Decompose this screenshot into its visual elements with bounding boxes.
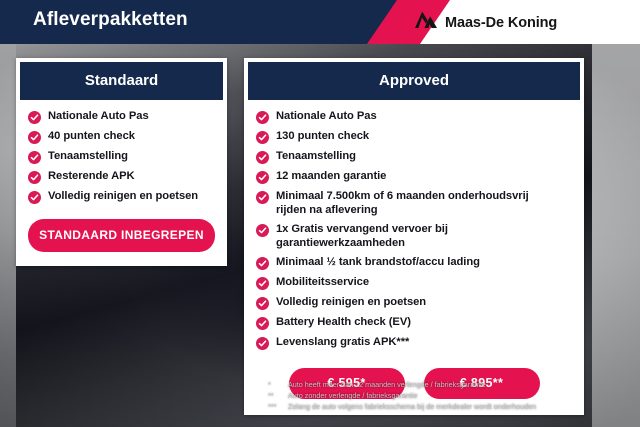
check-circle-icon [256,277,269,290]
list-item: Mobiliteitsservice [256,276,574,290]
check-circle-icon [28,111,41,124]
feature-label: Nationale Auto Pas [48,110,149,124]
feature-label: Tenaamstelling [276,150,356,164]
feature-label: 130 punten check [276,130,369,144]
background-left-strip [0,44,16,427]
footnote-marker: *** [268,401,282,412]
footnote-2: ** Auto zonder verlengde / fabrieksgaran… [268,390,608,401]
list-item: 12 maanden garantie [256,170,574,184]
check-circle-icon [256,111,269,124]
check-circle-icon [28,151,41,164]
list-item: Nationale Auto Pas [256,110,574,124]
list-item: Tenaamstelling [256,150,574,164]
feature-label: Levenslang gratis APK*** [276,336,409,350]
card-approved-title: Approved [248,62,580,100]
list-item: Battery Health check (EV) [256,316,574,330]
check-circle-icon [256,151,269,164]
footnote-text: Auto heeft meer dan 12 maanden verlengde… [288,379,608,390]
check-circle-icon [256,257,269,270]
feature-label: 12 maanden garantie [276,170,386,184]
card-standaard-title: Standaard [20,62,223,100]
background-right-strip [592,44,640,427]
list-item: 1x Gratis vervangend vervoer bij garanti… [256,223,574,250]
list-item: Nationale Auto Pas [28,110,217,124]
check-circle-icon [256,297,269,310]
check-circle-icon [28,171,41,184]
card-approved: Approved Nationale Auto Pas 130 punten c… [244,58,584,415]
list-item: Levenslang gratis APK*** [256,336,574,350]
feature-label: Resterende APK [48,170,135,184]
check-circle-icon [256,191,269,204]
feature-label: Mobiliteitsservice [276,276,369,290]
list-item: Minimaal 7.500km of 6 maanden onderhouds… [256,190,574,217]
check-circle-icon [256,337,269,350]
page-title: Afleverpakketten [33,9,188,31]
feature-label: Tenaamstelling [48,150,128,164]
list-item: Volledig reinigen en poetsen [28,190,217,204]
footnote-marker: ** [268,390,282,401]
check-circle-icon [256,131,269,144]
footnotes: * Auto heeft meer dan 12 maanden verleng… [268,379,608,413]
feature-label: Volledig reinigen en poetsen [48,190,198,204]
feature-label-multiline: Minimaal 7.500km of 6 maanden onderhouds… [276,190,529,217]
check-circle-icon [28,191,41,204]
list-item: 40 punten check [28,130,217,144]
feature-label: Minimaal ½ tank brandstof/accu lading [276,256,480,270]
feature-label-line1: Minimaal 7.500km of 6 maanden onderhouds… [276,190,529,202]
footnote-text: Auto zonder verlengde / fabrieksgarantie [288,390,608,401]
feature-list-approved: Nationale Auto Pas 130 punten check Tena… [244,110,584,350]
footnote-3: *** Zolang de auto volgens fabrieksschem… [268,401,608,412]
footnote-marker: * [268,379,282,390]
feature-label: Battery Health check (EV) [276,316,411,330]
standaard-button-wrap: STANDAARD INBEGREPEN [16,210,227,266]
card-approved-body: Nationale Auto Pas 130 punten check Tena… [244,100,584,415]
feature-list-standaard: Nationale Auto Pas 40 punten check Tenaa… [16,110,227,204]
feature-label: 40 punten check [48,130,135,144]
check-circle-icon [256,171,269,184]
list-item: Resterende APK [28,170,217,184]
check-circle-icon [28,131,41,144]
feature-label: Nationale Auto Pas [276,110,377,124]
check-circle-icon [256,224,269,237]
card-standaard: Standaard Nationale Auto Pas 40 punten c… [16,58,227,266]
feature-label: 1x Gratis vervangend vervoer bij garanti… [276,223,574,250]
brand-logo: Maas-De Koning [414,10,557,35]
standaard-inbegrepen-button[interactable]: STANDAARD INBEGREPEN [28,219,215,252]
list-item: 130 punten check [256,130,574,144]
maas-de-koning-m-logo-icon [414,10,438,35]
card-standaard-body: Nationale Auto Pas 40 punten check Tenaa… [16,100,227,266]
list-item: Tenaamstelling [28,150,217,164]
page-header: Afleverpakketten Maas-De Koning [0,0,640,44]
brand-name: Maas-De Koning [445,15,557,31]
footnote-1: * Auto heeft meer dan 12 maanden verleng… [268,379,608,390]
footnote-text: Zolang de auto volgens fabrieksschema bi… [288,401,608,412]
list-item: Volledig reinigen en poetsen [256,296,574,310]
feature-label: Volledig reinigen en poetsen [276,296,426,310]
check-circle-icon [256,317,269,330]
list-item: Minimaal ½ tank brandstof/accu lading [256,256,574,270]
afleverpakketten-page: Afleverpakketten Maas-De Koning Standaar… [0,0,640,427]
feature-label-line2: rijden na aflevering [276,204,529,218]
